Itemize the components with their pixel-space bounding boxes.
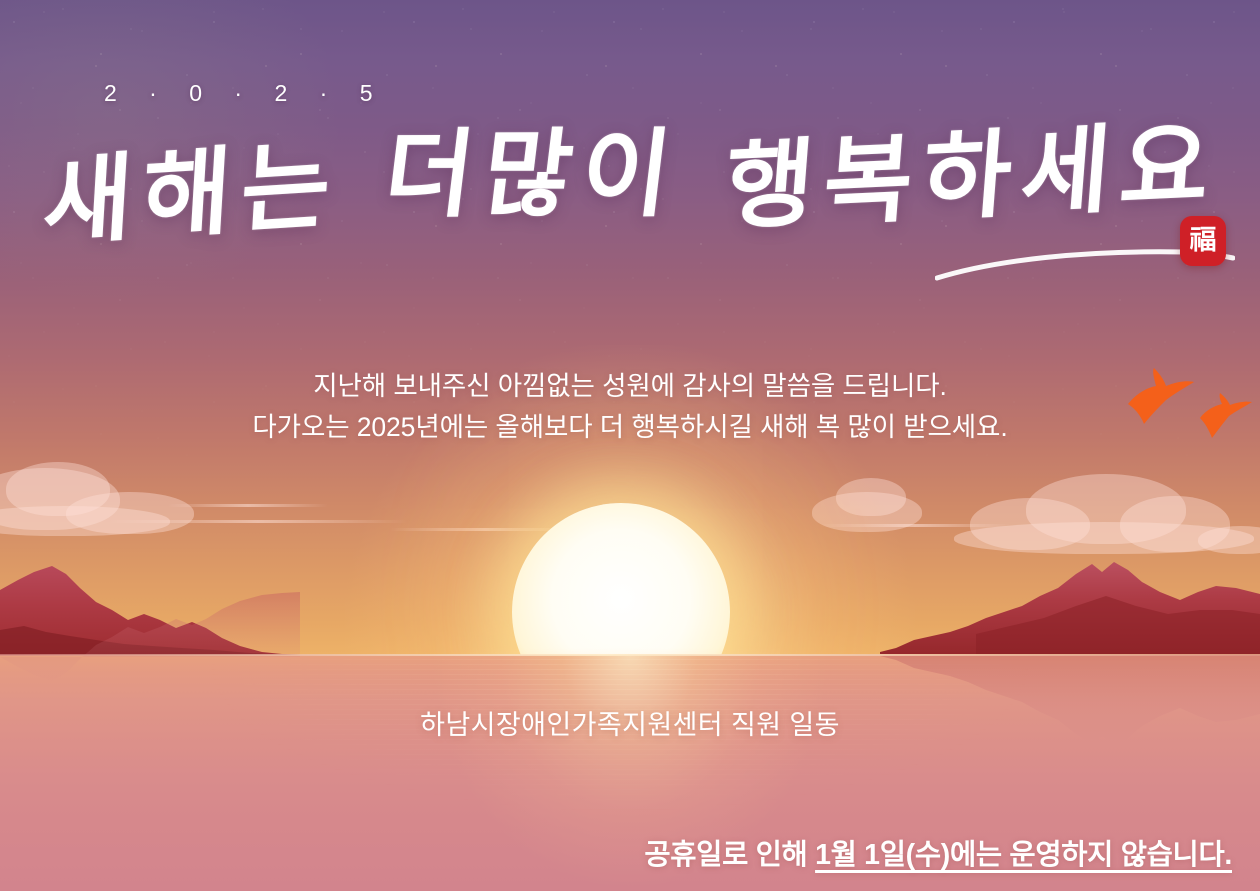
headline-part-2: 더많이 bbox=[379, 126, 686, 223]
holiday-notice: 공휴일로 인해 1월 1일(수)에는 운영하지 않습니다. bbox=[644, 832, 1232, 873]
notice-prefix: 공휴일로 인해 bbox=[644, 839, 815, 871]
seal-character: 福 bbox=[1190, 227, 1217, 254]
greeting-line-2: 다가오는 2025년에는 올해보다 더 행복하시길 새해 복 많이 받으세요. bbox=[0, 407, 1260, 448]
organization-signature: 하남시장애인가족지원센터 직원 일동 bbox=[0, 703, 1260, 742]
year-label: 2 · 0 · 2 · 5 bbox=[104, 80, 385, 107]
headline-part-1: 새해는 bbox=[41, 137, 343, 251]
greeting-body: 지난해 보내주신 아낌없는 성원에 감사의 말씀을 드립니다. 다가오는 202… bbox=[0, 366, 1260, 448]
greeting-line-1: 지난해 보내주신 아낌없는 성원에 감사의 말씀을 드립니다. bbox=[0, 366, 1260, 407]
notice-underlined: 1월 1일(수)에는 운영하지 않습니다. bbox=[815, 839, 1232, 871]
headline-part-3: 행복하세요 bbox=[721, 117, 1222, 235]
fortune-seal-icon: 福 bbox=[1180, 216, 1226, 266]
new-year-greeting-card: 2 · 0 · 2 · 5 새해는더많이행복하세요 福 지난해 보내주신 아낌없… bbox=[0, 0, 1260, 891]
